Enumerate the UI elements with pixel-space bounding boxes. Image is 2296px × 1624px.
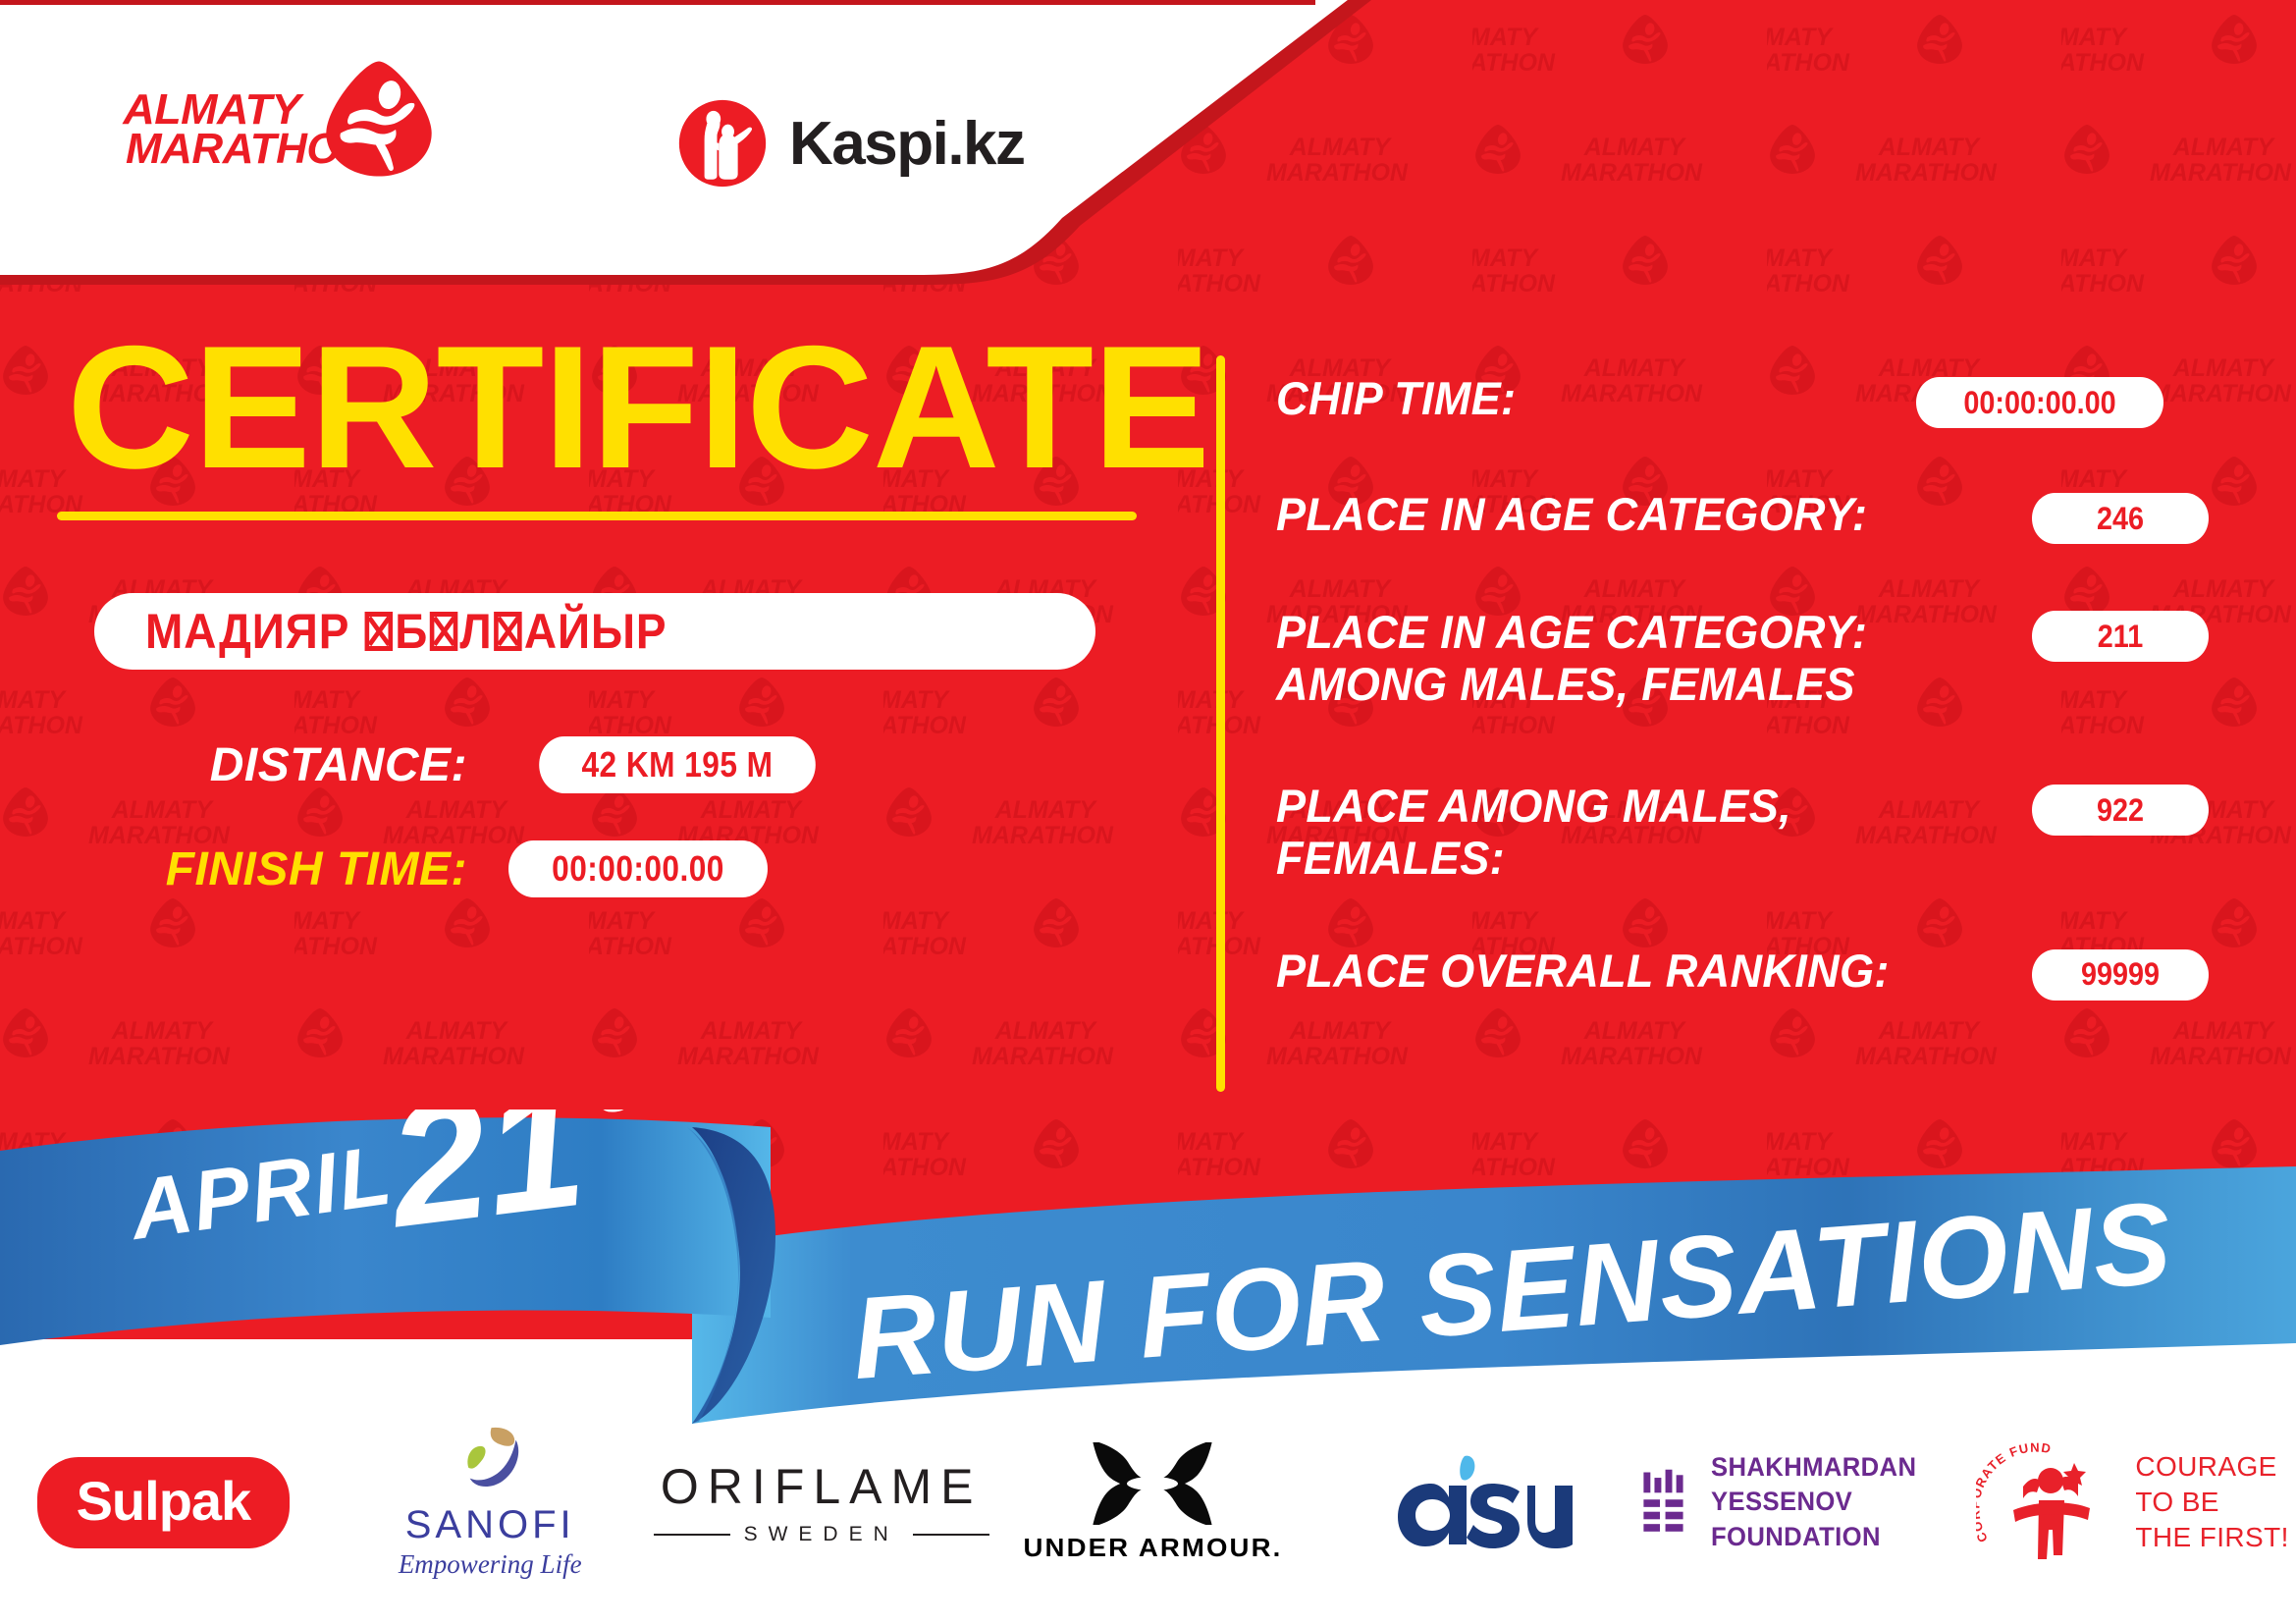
athlete-name-value: МАДИЯР БЛАЙЫР [145,603,667,660]
chip-time-label: CHIP TIME: [1276,373,1559,425]
athlete-name-field[interactable]: МАДИЯР БЛАЙЫР [94,593,1095,670]
sponsor-sulpak: Sulpak [0,1457,327,1548]
yessenov-label: SHAKHMARDAN YESSENOV FOUNDATION [1711,1450,1956,1553]
sponsor-oriflame: ORIFLAME SWEDEN [654,1458,989,1546]
courage-to-be-the-first-logo-icon: CORPORATE FUND [1976,1439,2119,1565]
sponsor-sanofi: SANOFI Empowering Life [327,1425,654,1580]
sanofi-logo-icon [452,1425,528,1501]
chip-time-value: 00:00:00.00 [1916,377,2163,428]
distance-value: 42 KM 195 M [539,736,816,793]
certificate-canvas: ALMATY MARATHON Kaspi.kz CERTIFICATE МАД [0,0,2296,1624]
under-armour-logo-icon [1089,1442,1216,1525]
header-top-rule [0,0,1315,5]
finish-time-label: FINISH TIME: [94,842,467,896]
sponsor-yessenov-foundation: SHAKHMARDAN YESSENOV FOUNDATION [1642,1450,1969,1553]
label-line-2: FEMALES: [1276,833,1975,885]
place-age-category-gender-row: PLACE IN AGE CATEGORY: AMONG MALES, FEMA… [1276,607,2218,710]
finish-time-row: FINISH TIME: 00:00:00.00 [94,840,1168,897]
place-among-gender-label: PLACE AMONG MALES, FEMALES: [1276,781,1975,884]
place-among-gender-value: 922 [2032,785,2209,836]
page-title: CERTIFICATE [67,324,1179,490]
label-line-2: AMONG MALES, FEMALES [1276,659,1975,711]
oriflame-rule-right [913,1534,989,1536]
place-age-category-gender-label: PLACE IN AGE CATEGORY: AMONG MALES, FEMA… [1276,607,1975,710]
sanofi-label: SANOFI [405,1503,575,1547]
courage-line3: THE FIRST! [2135,1520,2288,1555]
yessenov-foundation-logo-icon [1642,1455,1687,1549]
title-underline [57,512,1137,520]
sponsor-under-armour: UNDER ARMOUR. [989,1442,1316,1563]
kaspi-wordmark: Kaspi.kz [789,109,1025,179]
distance-row: DISTANCE: 42 KM 195 M [94,736,1168,793]
place-overall-ranking-row: PLACE OVERALL RANKING: 99999 [1276,946,2218,1001]
label-line-1: PLACE AMONG MALES, [1276,781,1975,833]
kaspi-family-circle-icon [677,98,768,189]
courage-label: COURAGE TO BE THE FIRST! [2135,1449,2288,1554]
under-armour-label: UNDER ARMOUR. [1023,1533,1282,1563]
oriflame-label: ORIFLAME [661,1458,983,1515]
place-overall-ranking-value: 99999 [2032,949,2209,1001]
finish-time-value: 00:00:00.00 [508,840,768,897]
kaspi-logo: Kaspi.kz [677,98,1025,189]
sulpak-label: Sulpak [77,1469,251,1533]
missing-glyph-box [494,612,522,651]
almaty-marathon-logo: ALMATY MARATHON [126,59,450,191]
asu-logo-icon [1386,1450,1573,1554]
event-ribbon: APRIL 21 st RUN FOR SENSATIONS [0,1110,2296,1443]
yessenov-label-line2: FOUNDATION [1711,1520,1956,1554]
courage-line2: TO BE [2135,1485,2288,1520]
left-panel: CERTIFICATE МАДИЯР БЛАЙЫР DISTANCE: 42 K… [0,324,1168,897]
oriflame-sub-label: SWEDEN [744,1523,899,1546]
oriflame-sub: SWEDEN [654,1523,989,1546]
right-panel: CHIP TIME: 00:00:00.00 PLACE IN AGE CATE… [1276,373,2218,1008]
missing-glyph-box [430,612,458,651]
chip-time-row: CHIP TIME: 00:00:00.00 [1276,373,2218,428]
missing-glyph-box [365,612,394,651]
sponsor-asu [1316,1450,1643,1554]
oriflame-rule-left [654,1534,730,1536]
sponsor-courage-fund: CORPORATE FUND COURAGE TO BE THE FIRST! [1969,1439,2296,1565]
sanofi-tagline: Empowering Life [399,1549,582,1580]
place-age-category-row: PLACE IN AGE CATEGORY: 246 [1276,489,2218,544]
courage-line1: COURAGE [2135,1449,2288,1485]
distance-label: DISTANCE: [94,738,467,792]
place-among-gender-row: PLACE AMONG MALES, FEMALES: 922 [1276,781,2218,884]
place-overall-ranking-label: PLACE OVERALL RANKING: [1276,946,1979,998]
place-age-category-value: 246 [2032,493,2209,544]
place-age-category-label: PLACE IN AGE CATEGORY: [1276,489,1975,541]
place-age-category-gender-value: 211 [2032,611,2209,662]
running-figure-drop-icon [319,59,439,179]
sulpak-logo-icon: Sulpak [37,1457,291,1548]
yessenov-label-line1: SHAKHMARDAN YESSENOV [1711,1450,1956,1519]
sponsor-strip: Sulpak SANOFI Empowering Life ORIFLAME S… [0,1404,2296,1600]
column-divider [1216,355,1225,1092]
label-line-1: PLACE IN AGE CATEGORY: [1276,607,1975,659]
ribbon-day: 21 [376,1110,593,1265]
